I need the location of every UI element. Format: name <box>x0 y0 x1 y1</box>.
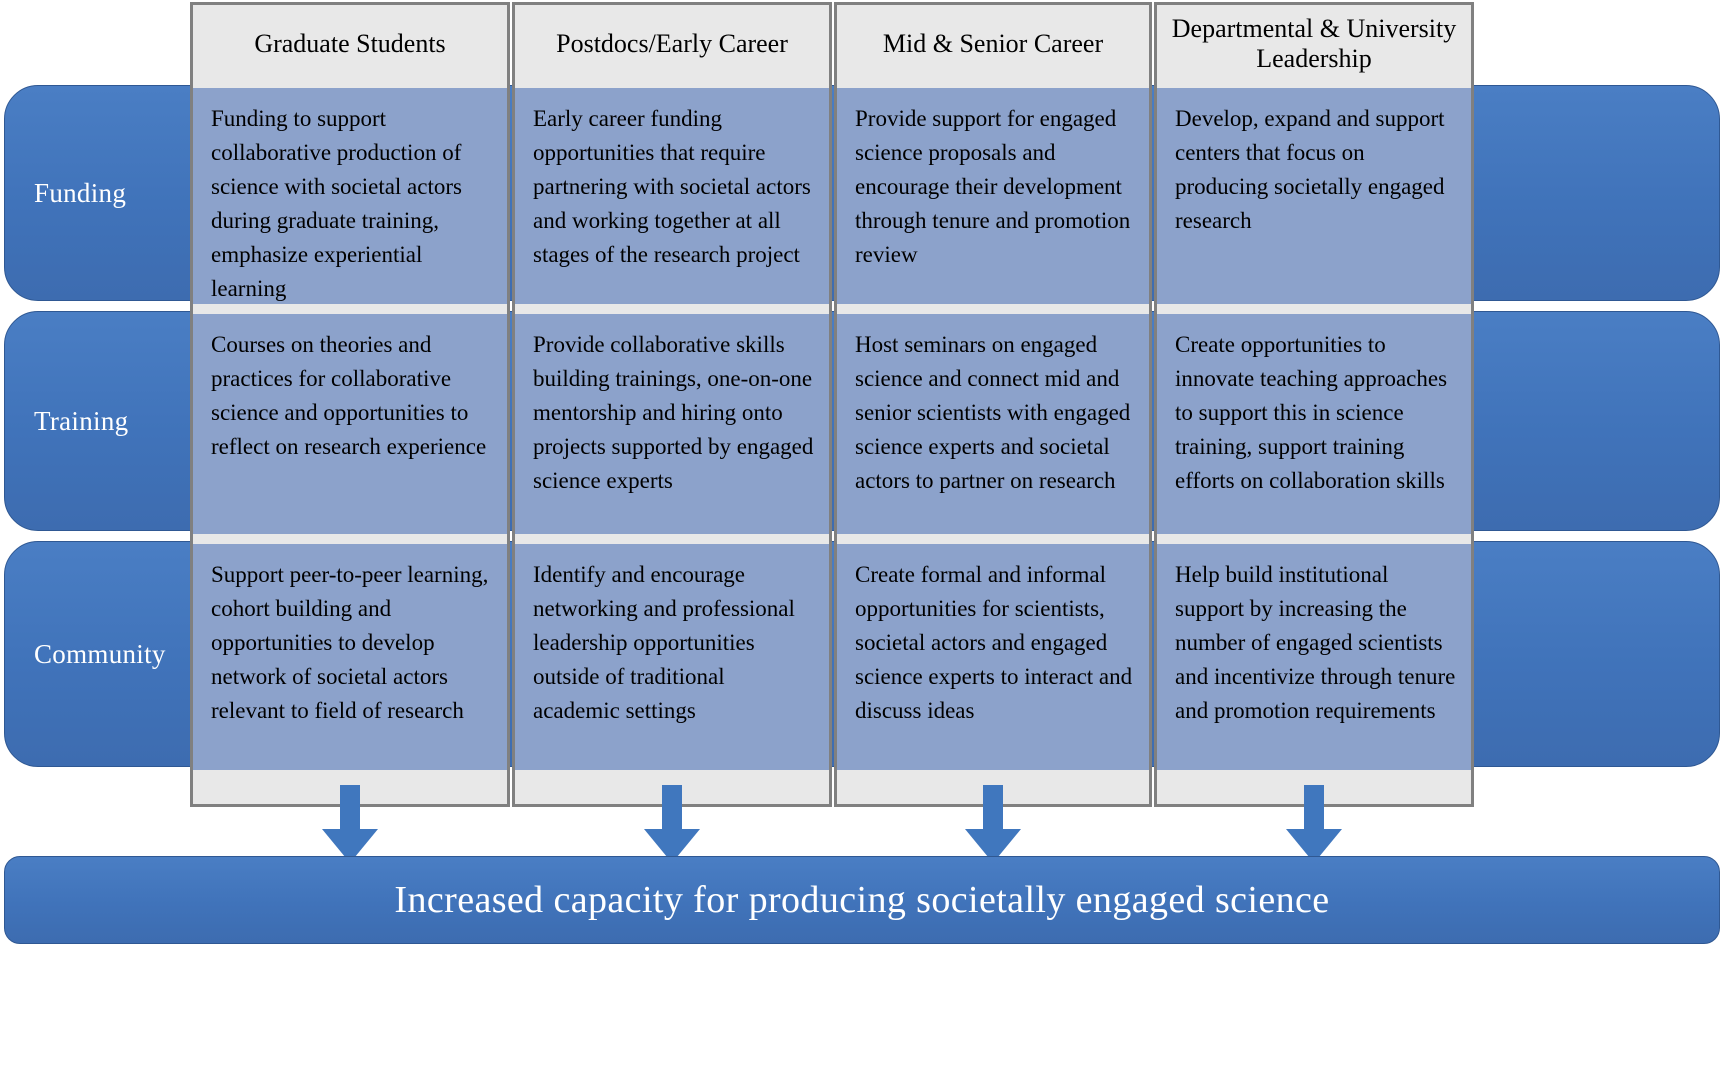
column-graduate-students: Graduate Students Funding to support col… <box>190 2 510 807</box>
cell-funding-graduate-students: Funding to support collaborative product… <box>193 88 507 304</box>
column-header-departmental-university-leadership: Departmental & University Leadership <box>1157 5 1471 83</box>
arrow-shaft <box>983 785 1003 831</box>
cell-community-departmental-university-leadership: Help build institutional support by incr… <box>1157 544 1471 770</box>
row-label-funding: Funding <box>34 85 126 301</box>
column-departmental-university-leadership: Departmental & University Leadership Dev… <box>1154 2 1474 807</box>
cell-funding-mid-senior-career: Provide support for engaged science prop… <box>837 88 1149 304</box>
cell-training-graduate-students: Courses on theories and practices for co… <box>193 314 507 534</box>
cell-training-departmental-university-leadership: Create opportunities to innovate teachin… <box>1157 314 1471 534</box>
cell-funding-postdocs-early-career: Early career funding opportunities that … <box>515 88 829 304</box>
row-label-training: Training <box>34 311 128 531</box>
column-header-mid-senior-career: Mid & Senior Career <box>837 5 1149 83</box>
cell-community-mid-senior-career: Create formal and informal opportunities… <box>837 544 1149 770</box>
arrow-down-icon <box>1286 785 1342 863</box>
arrow-shaft <box>662 785 682 831</box>
column-header-graduate-students: Graduate Students <box>193 5 507 83</box>
capacity-building-matrix: Graduate Students Funding to support col… <box>0 0 1725 1075</box>
arrow-down-icon <box>965 785 1021 863</box>
arrow-down-icon <box>644 785 700 863</box>
column-postdocs-early-career: Postdocs/Early Career Early career fundi… <box>512 2 832 807</box>
cell-community-graduate-students: Support peer-to-peer learning, cohort bu… <box>193 544 507 770</box>
arrow-shaft <box>340 785 360 831</box>
arrow-down-icon <box>322 785 378 863</box>
cell-training-mid-senior-career: Host seminars on engaged science and con… <box>837 314 1149 534</box>
outcome-text: Increased capacity for producing societa… <box>394 878 1329 922</box>
column-header-postdocs-early-career: Postdocs/Early Career <box>515 5 829 83</box>
cell-training-postdocs-early-career: Provide collaborative skills building tr… <box>515 314 829 534</box>
cell-community-postdocs-early-career: Identify and encourage networking and pr… <box>515 544 829 770</box>
cell-funding-departmental-university-leadership: Develop, expand and support centers that… <box>1157 88 1471 304</box>
row-label-community: Community <box>34 541 166 767</box>
column-mid-senior-career: Mid & Senior Career Provide support for … <box>834 2 1152 807</box>
arrow-shaft <box>1304 785 1324 831</box>
outcome-banner: Increased capacity for producing societa… <box>4 856 1720 944</box>
